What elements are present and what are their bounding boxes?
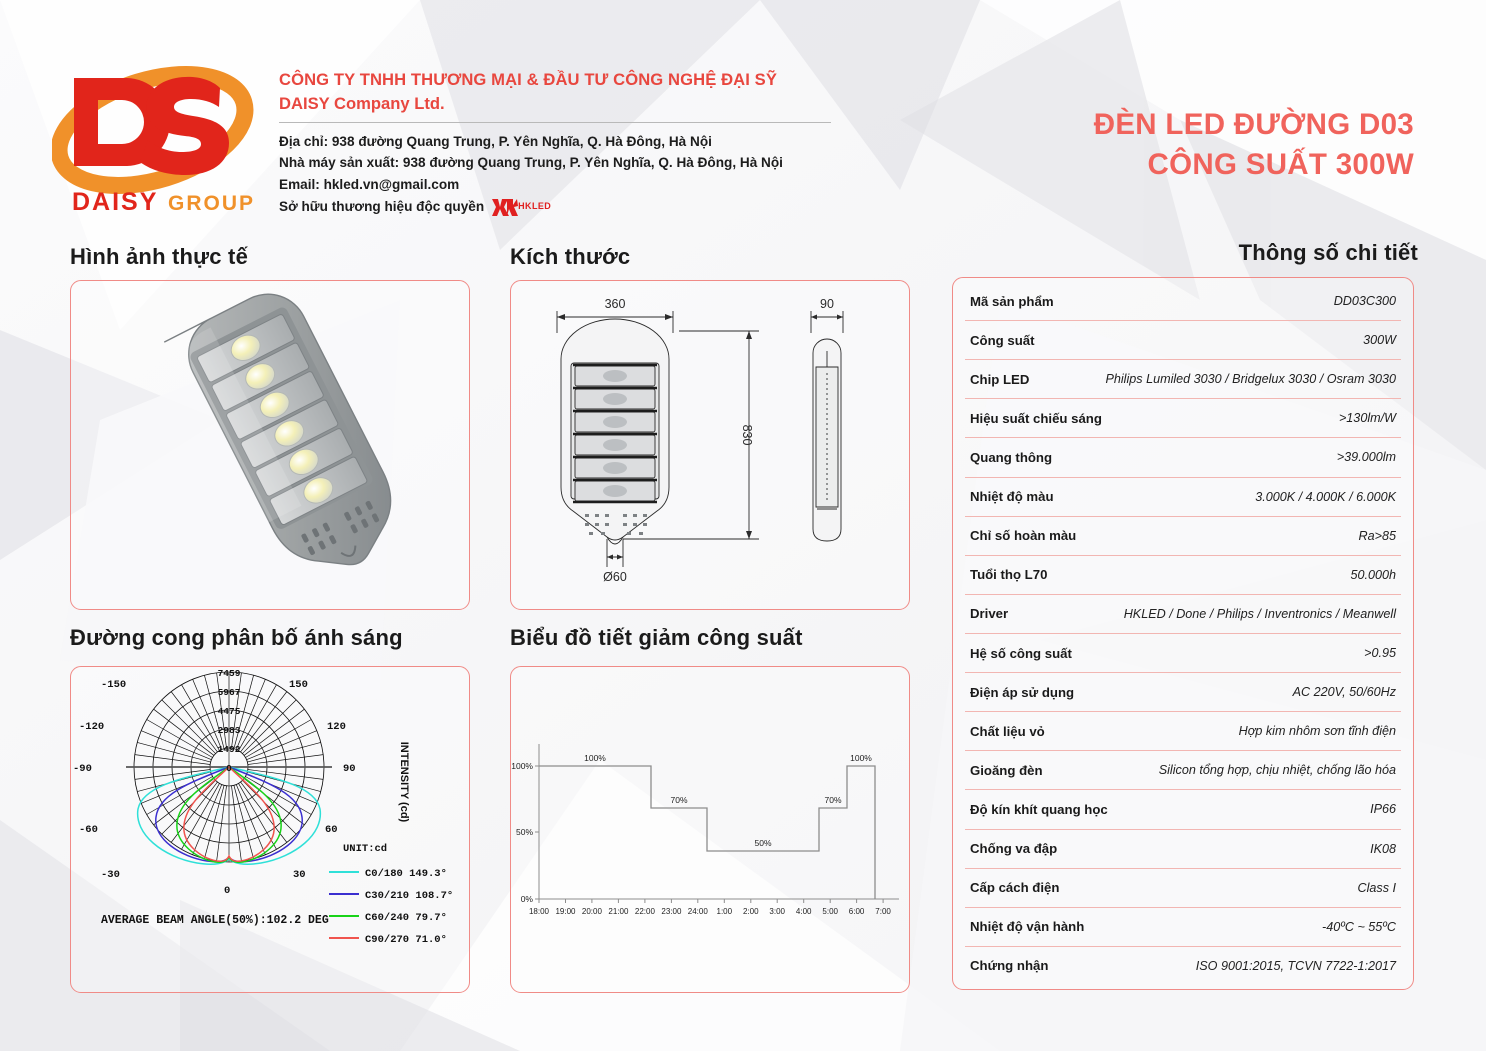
dim-width-label: 360 — [605, 297, 626, 311]
spec-row: Tuổi thọ L7050.000h — [965, 556, 1401, 595]
power-step-label-5: 100% — [850, 753, 872, 763]
spec-key: Điện áp sử dụng — [970, 685, 1074, 700]
spec-row: Mã sản phẩmDD03C300 — [965, 282, 1401, 321]
company-name-vi: CÔNG TY TNHH THƯƠNG MẠI & ĐẦU TƯ CÔNG NG… — [279, 68, 831, 92]
polar-angle--90: -90 — [73, 763, 92, 775]
power-step-label-1: 100% — [584, 753, 606, 763]
spec-row: Chỉ số hoàn màuRa>85 — [965, 517, 1401, 556]
dim-height-label: 830 — [740, 425, 754, 446]
dim-mount-label: Ø60 — [603, 570, 627, 584]
dimensions-panel: 360 90 830 Ø60 — [510, 280, 910, 610]
svg-text:GROUP: GROUP — [168, 192, 255, 215]
power-step-label-4: 70% — [824, 795, 841, 805]
product-photo-panel — [70, 280, 470, 610]
power-dimming-chart: 100% 50% 0% 18:0019:0020:0021:0022:0023:… — [511, 667, 909, 992]
spec-value: -40ºC ~ 55ºC — [1322, 920, 1396, 934]
power-xtick: 24:00 — [688, 907, 709, 916]
section-heading-dimensions: Kích thước — [510, 244, 630, 270]
spec-key: Hệ số công suất — [970, 646, 1072, 661]
light-distribution-panel: 7459 5967 4475 2983 1492 0 -150 -120 -90… — [70, 666, 470, 993]
daisy-logo: DAISY GROUP — [52, 52, 257, 217]
daisy-logo-icon: DAISY GROUP — [52, 52, 257, 217]
polar-legend-c90: C90/270 71.0° — [365, 934, 447, 946]
spec-row: Điện áp sử dụngAC 220V, 50/60Hz — [965, 673, 1401, 712]
spec-value: Silicon tổng hợp, chịu nhiệt, chống lão … — [1159, 763, 1396, 777]
spec-row: Độ kín khít quang họcIP66 — [965, 790, 1401, 829]
power-dimming-panel: 100% 50% 0% 18:0019:0020:0021:0022:0023:… — [510, 666, 910, 993]
spec-value: 50.000h — [1350, 568, 1396, 582]
power-ytick-50: 50% — [516, 827, 533, 837]
spec-key: Cấp cách điện — [970, 880, 1059, 895]
product-photo — [71, 281, 469, 609]
polar-legend-c0: C0/180 149.3° — [365, 868, 447, 880]
spec-value: AC 220V, 50/60Hz — [1293, 685, 1396, 699]
spec-value: >130lm/W — [1339, 411, 1396, 425]
power-ytick-100: 100% — [511, 761, 533, 771]
brand-ownership-note: Sở hữu thương hiệu độc quyền — [279, 196, 484, 217]
power-step-line — [539, 766, 875, 899]
spec-row: Công suất300W — [965, 321, 1401, 360]
spec-value: 300W — [1363, 333, 1396, 347]
spec-row: Cấp cách điệnClass I — [965, 869, 1401, 908]
spec-key: Hiệu suất chiếu sáng — [970, 411, 1102, 426]
power-xtick: 18:00 — [529, 907, 550, 916]
polar-tick-4475: 4475 — [218, 706, 241, 717]
dim-depth-label: 90 — [820, 297, 834, 311]
spec-row: Hệ số công suất>0.95 — [965, 634, 1401, 673]
polar-angle-0: 0 — [224, 885, 230, 897]
spec-value: Philips Lumiled 3030 / Bridgelux 3030 / … — [1105, 372, 1396, 386]
hkled-logo: HKLED — [492, 197, 551, 216]
company-header: DAISY GROUP CÔNG TY TNHH THƯƠNG MẠI & ĐẦ… — [52, 52, 952, 222]
spec-key: Tuổi thọ L70 — [970, 567, 1047, 582]
spec-value: >0.95 — [1364, 646, 1396, 660]
spec-value: ISO 9001:2015, TCVN 7722-1:2017 — [1196, 959, 1396, 973]
spec-table: Mã sản phẩmDD03C300Công suất300WChip LED… — [965, 282, 1401, 985]
spec-value: Ra>85 — [1359, 529, 1396, 543]
company-name-en: DAISY Company Ltd. — [279, 92, 831, 116]
company-factory: Nhà máy sản xuất: 938 đường Quang Trung,… — [279, 152, 831, 173]
spec-key: Chỉ số hoàn màu — [970, 528, 1076, 543]
spec-key: Quang thông — [970, 450, 1052, 465]
spec-key: Mã sản phẩm — [970, 294, 1054, 309]
spec-table-panel: Mã sản phẩmDD03C300Công suất300WChip LED… — [952, 277, 1414, 990]
spec-row: DriverHKLED / Done / Philips / Inventron… — [965, 595, 1401, 634]
spec-key: Nhiệt độ màu — [970, 489, 1054, 504]
power-xtick: 5:00 — [822, 907, 838, 916]
spec-row: Gioăng đènSilicon tổng hợp, chịu nhiệt, … — [965, 751, 1401, 790]
spec-value: >39.000lm — [1337, 450, 1396, 464]
polar-tick-1492: 1492 — [218, 744, 241, 755]
polar-angle-60: 60 — [325, 824, 338, 836]
polar-tick-2983: 2983 — [218, 725, 241, 736]
spec-value: HKLED / Done / Philips / Inventronics / … — [1124, 607, 1396, 621]
power-xtick: 22:00 — [635, 907, 656, 916]
spec-row: Nhiệt độ màu3.000K / 4.000K / 6.000K — [965, 478, 1401, 517]
polar-caption: AVERAGE BEAM ANGLE(50%):102.2 DEG — [101, 914, 329, 927]
spec-row: Chất liệu vỏHợp kim nhôm sơn tĩnh điện — [965, 712, 1401, 751]
power-step-label-3: 50% — [754, 838, 771, 848]
power-xtick: 1:00 — [717, 907, 733, 916]
spec-key: Công suất — [970, 333, 1034, 348]
spec-key: Nhiệt độ vận hành — [970, 919, 1084, 934]
spec-key: Chất liệu vỏ — [970, 724, 1045, 739]
polar-angle--60: -60 — [79, 824, 98, 836]
polar-unit-label: UNIT:cd — [343, 843, 387, 855]
power-xtick: 3:00 — [769, 907, 785, 916]
power-xtick: 21:00 — [608, 907, 629, 916]
power-xtick: 7:00 — [875, 907, 891, 916]
power-xtick: 19:00 — [555, 907, 576, 916]
polar-tick-5967: 5967 — [218, 687, 241, 698]
power-xtick: 2:00 — [743, 907, 759, 916]
product-title: ĐÈN LED ĐƯỜNG D03 CÔNG SUẤT 300W — [944, 105, 1414, 184]
polar-angle--120: -120 — [79, 721, 104, 733]
spec-row: Nhiệt độ vận hành-40ºC ~ 55ºC — [965, 908, 1401, 947]
spec-value: IP66 — [1370, 802, 1396, 816]
product-title-line1: ĐÈN LED ĐƯỜNG D03 — [944, 105, 1414, 145]
power-xtick: 20:00 — [582, 907, 603, 916]
polar-legend-c60: C60/240 79.7° — [365, 912, 447, 924]
spec-row: Chứng nhậnISO 9001:2015, TCVN 7722-1:201… — [965, 947, 1401, 985]
polar-angle-90: 90 — [343, 763, 356, 775]
power-ytick-0: 0% — [521, 894, 534, 904]
hkled-mark-icon — [492, 197, 518, 216]
spec-row: Chip LEDPhilips Lumiled 3030 / Bridgelux… — [965, 360, 1401, 399]
power-xtick: 6:00 — [849, 907, 865, 916]
spec-key: Độ kín khít quang học — [970, 802, 1108, 817]
polar-axis-title: INTENSITY (cd) — [398, 742, 410, 823]
spec-key: Chip LED — [970, 372, 1029, 387]
spec-key: Chứng nhận — [970, 958, 1048, 973]
spec-row: Quang thông>39.000lm — [965, 438, 1401, 477]
polar-angle-30: 30 — [293, 869, 306, 881]
polar-angle--30: -30 — [101, 869, 120, 881]
spec-value: Hợp kim nhôm sơn tĩnh điện — [1239, 724, 1396, 738]
polar-legend-c30: C30/210 108.7° — [365, 890, 453, 902]
polar-angle--150: -150 — [101, 679, 126, 691]
power-xtick: 23:00 — [661, 907, 682, 916]
spec-value: Class I — [1358, 881, 1397, 895]
product-title-line2: CÔNG SUẤT 300W — [944, 145, 1414, 185]
company-address: Địa chỉ: 938 đường Quang Trung, P. Yên N… — [279, 131, 831, 152]
polar-angle-120: 120 — [327, 721, 346, 733]
dimensions-drawing: 360 90 830 Ø60 — [511, 281, 909, 609]
section-heading-light-curve: Đường cong phân bố ánh sáng — [70, 625, 403, 651]
spec-key: Chống va đập — [970, 841, 1057, 856]
section-heading-power-chart: Biểu đồ tiết giảm công suất — [510, 625, 803, 651]
polar-angle-150: 150 — [289, 679, 308, 691]
spec-value: 3.000K / 4.000K / 6.000K — [1255, 490, 1396, 504]
polar-tick-0-top: 0 — [226, 763, 232, 774]
spec-key: Gioăng đèn — [970, 763, 1043, 778]
company-email: Email: hkled.vn@gmail.com — [279, 174, 831, 195]
spec-row: Chống va đậpIK08 — [965, 830, 1401, 869]
power-step-label-2: 70% — [670, 795, 687, 805]
spec-key: Driver — [970, 606, 1008, 621]
polar-tick-7459: 7459 — [218, 668, 241, 679]
spec-value: IK08 — [1370, 842, 1396, 856]
header-divider — [279, 122, 831, 123]
section-heading-photo: Hình ảnh thực tế — [70, 244, 248, 270]
spec-value: DD03C300 — [1334, 294, 1396, 308]
power-xtick: 4:00 — [796, 907, 812, 916]
svg-text:DAISY: DAISY — [72, 188, 158, 216]
light-distribution-chart: 7459 5967 4475 2983 1492 0 -150 -120 -90… — [71, 667, 469, 992]
hkled-wordmark: HKLED — [518, 201, 551, 211]
section-heading-spec: Thông số chi tiết — [1239, 240, 1418, 266]
spec-row: Hiệu suất chiếu sáng>130lm/W — [965, 399, 1401, 438]
